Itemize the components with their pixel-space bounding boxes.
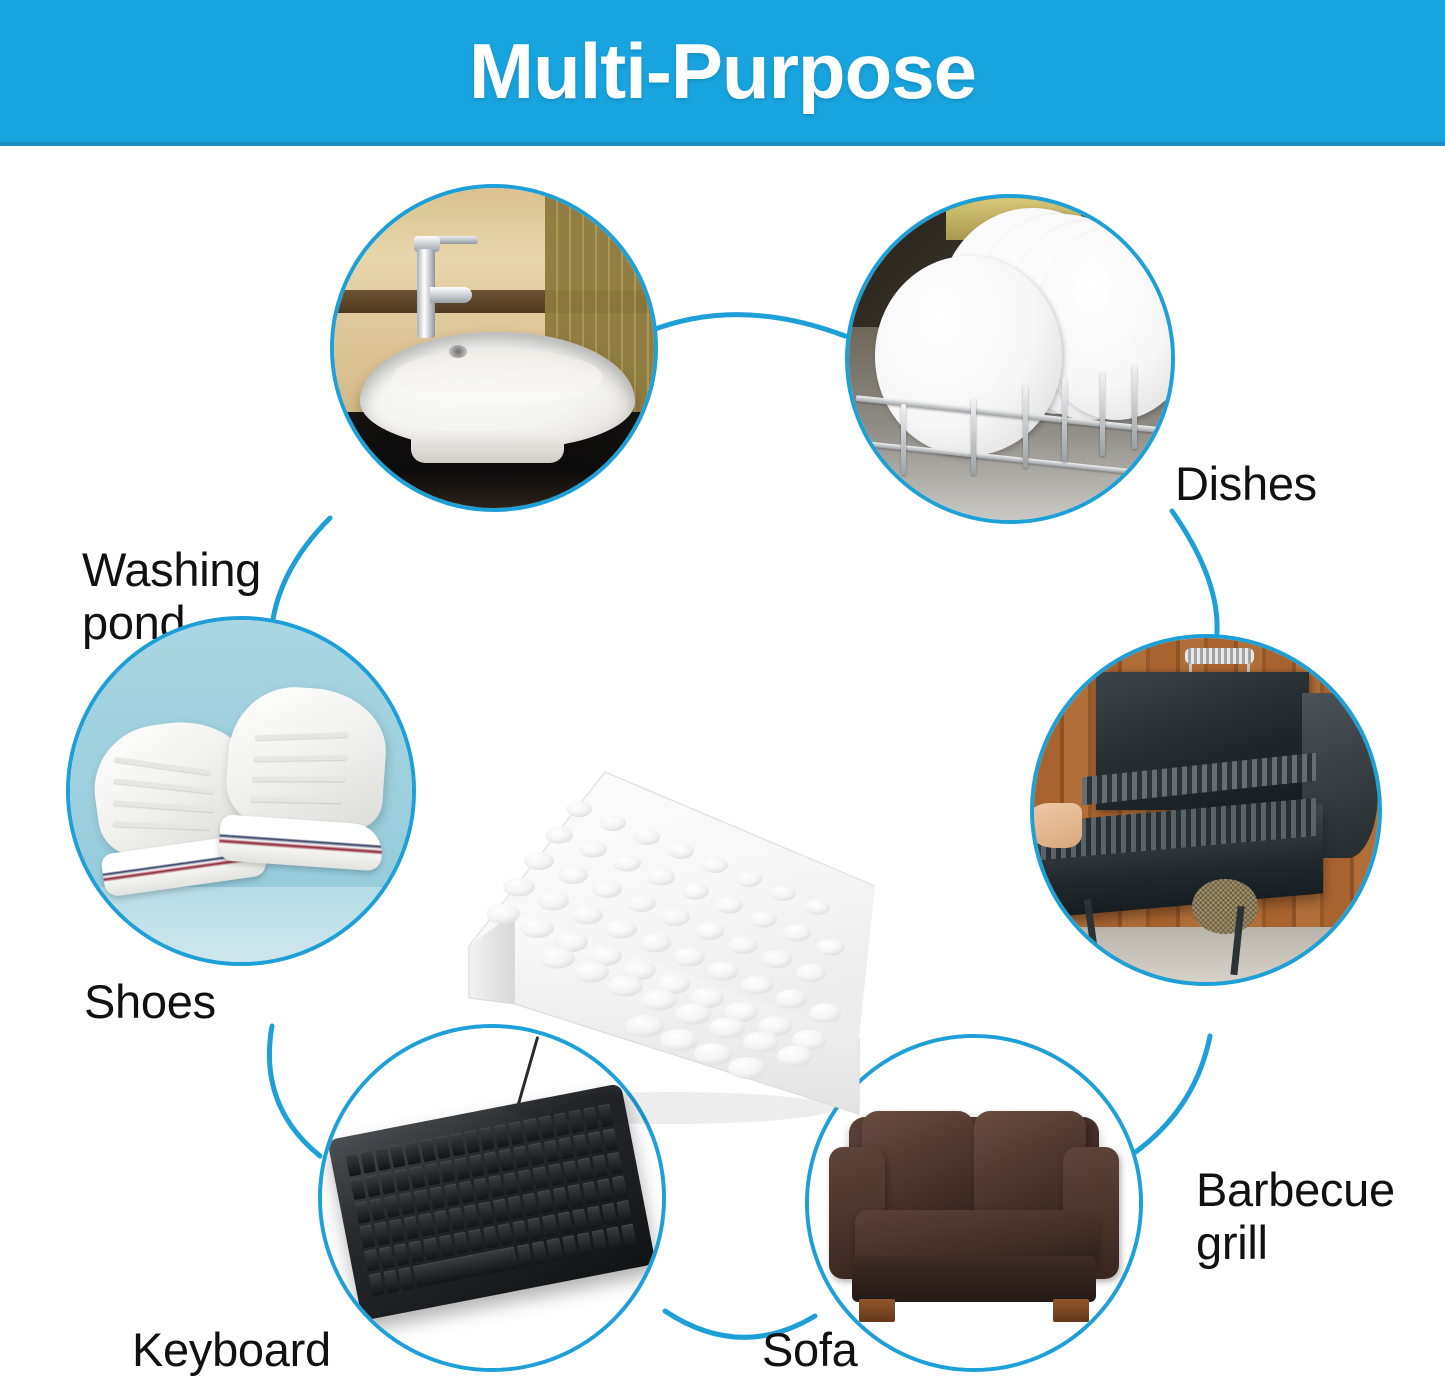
page-title: Multi-Purpose	[0, 0, 1445, 142]
infographic-stage: Washing pond Dishes	[0, 146, 1445, 1400]
arc-barbecue-sofa	[1130, 1036, 1210, 1156]
use-circle-barbecue-grill[interactable]	[1030, 634, 1382, 986]
label-sofa: Sofa	[762, 1324, 982, 1377]
photo-bathroom-sink	[334, 188, 654, 508]
label-keyboard: Keyboard	[132, 1324, 432, 1377]
label-shoes: Shoes	[84, 976, 324, 1029]
photo-dish-rack	[849, 198, 1171, 520]
photo-sneakers	[70, 620, 412, 962]
use-circle-washing-pond[interactable]	[330, 184, 658, 512]
photo-barbecue-grill	[1034, 638, 1378, 982]
use-circle-dishes[interactable]	[845, 194, 1175, 524]
use-circle-shoes[interactable]	[66, 616, 416, 966]
arc-keyboard-shoes	[269, 1026, 320, 1156]
label-barbecue-grill: Barbecue grill	[1196, 1164, 1445, 1269]
product-sponge-block	[455, 736, 875, 1136]
label-dishes: Dishes	[1175, 458, 1445, 511]
arc-washingpond-dishes	[650, 315, 845, 336]
header-banner: Multi-Purpose	[0, 0, 1445, 146]
